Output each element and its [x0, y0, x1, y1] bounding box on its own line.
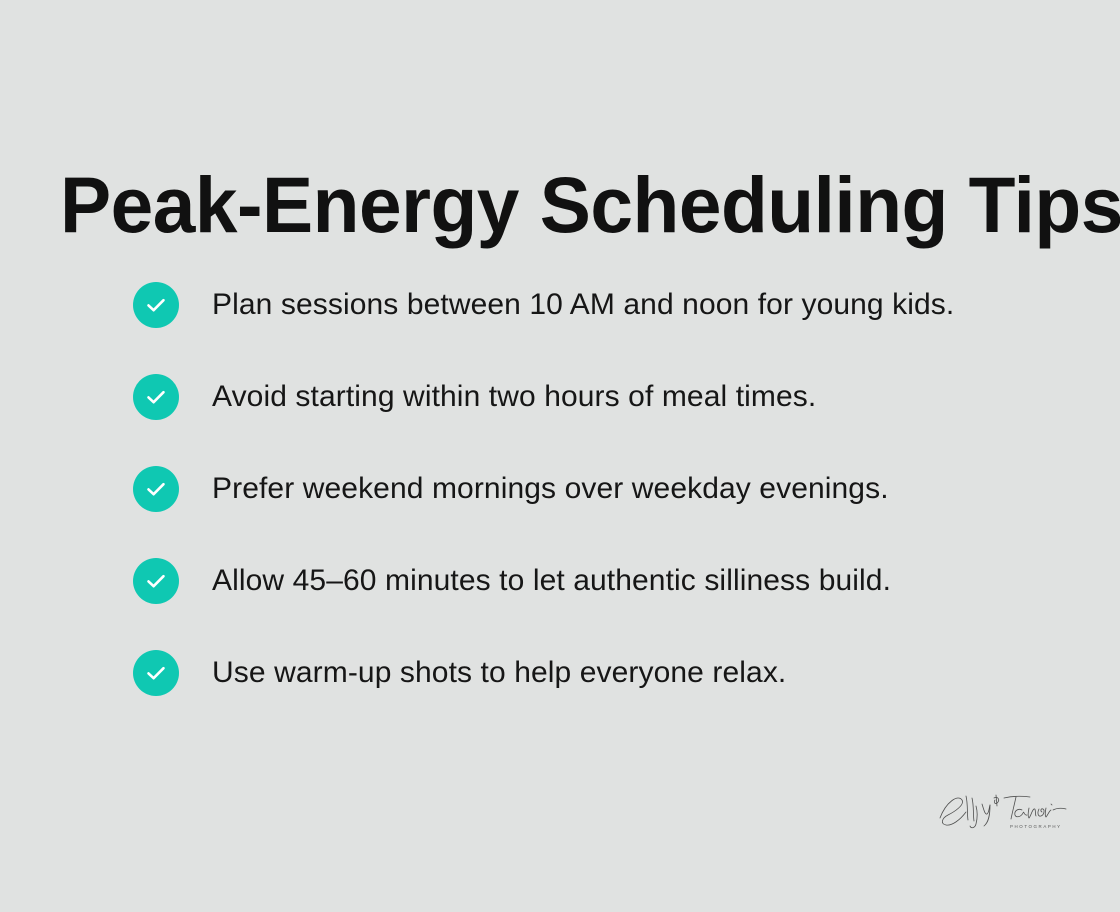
check-circle-icon: [133, 374, 179, 420]
tip-text: Avoid starting within two hours of meal …: [212, 378, 1093, 416]
tip-text: Plan sessions between 10 AM and noon for…: [212, 286, 1093, 324]
list-item: Prefer weekend mornings over weekday eve…: [133, 466, 1093, 512]
check-circle-icon: [133, 282, 179, 328]
tip-text: Prefer weekend mornings over weekday eve…: [212, 470, 1093, 508]
check-circle-icon: [133, 466, 179, 512]
list-item: Use warm-up shots to help everyone relax…: [133, 650, 1093, 696]
list-item: Plan sessions between 10 AM and noon for…: [133, 282, 1093, 328]
list-item: Avoid starting within two hours of meal …: [133, 374, 1093, 420]
slide-canvas: Peak-Energy Scheduling Tips Plan session…: [0, 0, 1120, 912]
page-title: Peak-Energy Scheduling Tips: [60, 161, 1120, 249]
tip-text: Use warm-up shots to help everyone relax…: [212, 654, 1093, 692]
tips-list: Plan sessions between 10 AM and noon for…: [133, 282, 1093, 696]
check-circle-icon: [133, 650, 179, 696]
check-circle-icon: [133, 558, 179, 604]
watermark-signature: PHOTOGRAPHY: [932, 784, 1072, 840]
tip-text: Allow 45–60 minutes to let authentic sil…: [212, 562, 1093, 600]
list-item: Allow 45–60 minutes to let authentic sil…: [133, 558, 1093, 604]
watermark-subtitle: PHOTOGRAPHY: [1010, 824, 1062, 829]
